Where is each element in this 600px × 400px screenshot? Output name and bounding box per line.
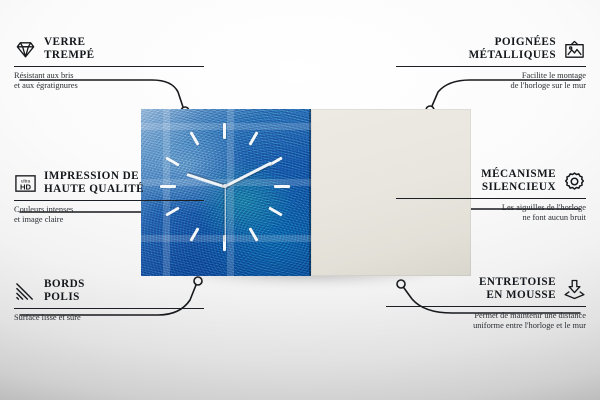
feature-sub-line1: Facilite le montage [396, 71, 586, 81]
feature-divider [14, 66, 204, 67]
feature-divider [396, 66, 586, 67]
feature-sub-line1: Surface lisse et sûre [14, 313, 204, 323]
feature-sub-line1: Couleurs intenses [14, 205, 204, 215]
hd-label: HD [20, 182, 32, 191]
feature-subtitle: Facilite le montage de l'horloge sur le … [396, 71, 586, 92]
feature-header: POIGNÉES MÉTALLIQUES [396, 36, 586, 63]
feature-entretoise: ENTRETOISE EN MOUSSE Permet de maintenir… [386, 276, 586, 331]
feature-divider [386, 306, 586, 307]
feature-bords-polis: BORDS POLIS Surface lisse et sûre [14, 278, 204, 323]
second-hand [224, 187, 225, 242]
feature-header: ENTRETOISE EN MOUSSE [386, 276, 586, 303]
feature-impression: ultra HD IMPRESSION DE HAUTE QUALITÉ Cou… [14, 170, 204, 225]
feature-verre-trempe: VERRE TREMPÉ Résistant aux bris et aux é… [14, 36, 204, 91]
feature-subtitle: Couleurs intenses et image claire [14, 205, 204, 226]
feature-header: MÉCANISME SILENCIEUX [396, 168, 586, 195]
feature-title: BORDS POLIS [44, 278, 85, 305]
feature-divider [14, 200, 204, 201]
feature-title-line2: EN MOUSSE [479, 289, 556, 302]
feature-divider [14, 308, 204, 309]
feature-mecanisme: MÉCANISME SILENCIEUX Les aiguilles de l'… [396, 168, 586, 223]
feature-title-line2: SILENCIEUX [481, 181, 556, 194]
feature-title-line1: MÉCANISME [481, 168, 556, 181]
feature-title: POIGNÉES MÉTALLIQUES [469, 36, 556, 63]
feature-title: MÉCANISME SILENCIEUX [481, 168, 556, 195]
picture-frame-hanger-icon [563, 38, 586, 61]
feature-poignees: POIGNÉES MÉTALLIQUES Facilite le montage… [396, 36, 586, 91]
clock-tick [274, 185, 290, 188]
feature-title-line1: BORDS [44, 278, 85, 291]
polished-edges-icon [14, 280, 37, 303]
feature-title: IMPRESSION DE HAUTE QUALITÉ [44, 170, 144, 197]
feature-title-line1: POIGNÉES [469, 36, 556, 49]
feature-sub-line2: et image claire [14, 215, 204, 225]
feature-subtitle: Surface lisse et sûre [14, 313, 204, 323]
feature-title-line2: POLIS [44, 291, 85, 304]
feature-header: ultra HD IMPRESSION DE HAUTE QUALITÉ [14, 170, 204, 197]
feature-header: BORDS POLIS [14, 278, 204, 305]
feature-divider [396, 198, 586, 199]
feature-title-line2: MÉTALLIQUES [469, 49, 556, 62]
ultra-hd-badge-icon: ultra HD [14, 172, 37, 195]
feature-title-line1: VERRE [44, 36, 95, 49]
feature-title-line2: TREMPÉ [44, 49, 95, 62]
feature-title-line1: IMPRESSION DE [44, 170, 144, 183]
feature-sub-line1: Les aiguilles de l'horloge [396, 203, 586, 213]
feature-sub-line2: uniforme entre l'horloge et le mur [386, 321, 586, 331]
infographic-canvas: VERRE TREMPÉ Résistant aux bris et aux é… [0, 0, 600, 400]
feature-header: VERRE TREMPÉ [14, 36, 204, 63]
feature-subtitle: Résistant aux bris et aux égratignures [14, 71, 204, 92]
feature-subtitle: Permet de maintenir une distance uniform… [386, 311, 586, 332]
diamond-icon [14, 38, 37, 61]
gear-icon [563, 170, 586, 193]
feature-title: ENTRETOISE EN MOUSSE [479, 276, 556, 303]
feature-sub-line2: de l'horloge sur le mur [396, 81, 586, 91]
feature-sub-line2: ne font aucun bruit [396, 213, 586, 223]
clock-tick [223, 123, 226, 139]
clock-hub [223, 184, 227, 188]
feature-title: VERRE TREMPÉ [44, 36, 95, 63]
feature-title-line1: ENTRETOISE [479, 276, 556, 289]
feature-sub-line1: Permet de maintenir une distance [386, 311, 586, 321]
feature-subtitle: Les aiguilles de l'horloge ne font aucun… [396, 203, 586, 224]
foam-spacer-arrow-icon [563, 278, 586, 301]
feature-sub-line2: et aux égratignures [14, 81, 204, 91]
feature-title-line2: HAUTE QUALITÉ [44, 183, 144, 196]
feature-sub-line1: Résistant aux bris [14, 71, 204, 81]
